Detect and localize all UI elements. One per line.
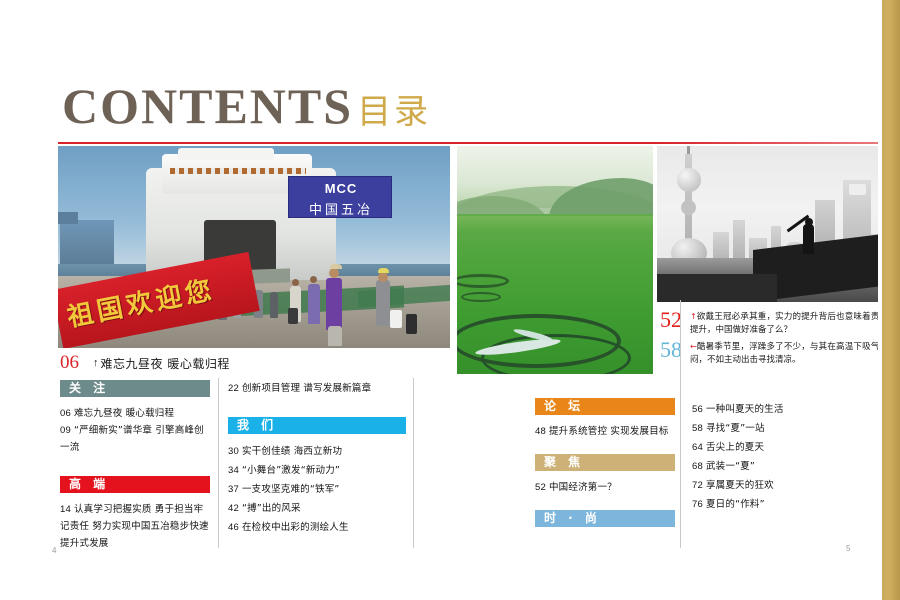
shanghai-skyline-photo	[657, 146, 890, 302]
caption-arrow-icon: ↑	[93, 357, 99, 369]
ship-bridge	[178, 148, 274, 160]
column-divider	[413, 378, 414, 548]
entry-title: 一种叫夏天的生活	[706, 404, 784, 415]
person	[270, 292, 278, 318]
entry-page: 68	[692, 461, 703, 472]
toc-entry[interactable]: 56一种叫夏天的生活	[692, 400, 867, 419]
port-crane-arm	[58, 212, 78, 224]
entry-title: 难忘九昼夜 暖心载归程	[74, 408, 174, 419]
toc-entry[interactable]: 46在检校中出彩的测绘人生	[228, 518, 406, 537]
caption-body-text: 欲戴王冠必承其重，实力的提升背后也意味着责任提升，中国做好准备了么？	[690, 312, 888, 335]
mcc-company-sign: MCC 中国五冶	[288, 176, 392, 218]
toc-entry[interactable]: 22创新项目管理 谱写发展新篇章	[228, 380, 406, 397]
ship-return-photo: MCC 中国五冶 祖国欢迎您	[58, 146, 450, 348]
person	[308, 284, 320, 324]
port-crane	[60, 220, 114, 264]
pearl-tower-upper-sphere	[677, 168, 701, 192]
section-guanzhu: 关 注 06难忘九昼夜 暖心载归程 09“严细新实”谱华章 引擎高峰创一流	[60, 380, 210, 456]
grass-horizon-band	[457, 216, 653, 232]
section-header-jujiao: 聚 焦	[535, 454, 675, 471]
person-head	[292, 279, 299, 286]
person-head	[378, 272, 388, 282]
luggage-bag	[288, 308, 298, 324]
section-header-guanzhu: 关 注	[60, 380, 210, 397]
entry-title: “搏”出的风采	[242, 503, 301, 514]
toc-entry[interactable]: 34“小舞台”激发“新动力”	[228, 461, 406, 480]
entry-page: 37	[228, 484, 239, 495]
section-jujiao: 聚 焦 52中国经济第一？	[535, 454, 675, 496]
section-header-women: 我 们	[228, 417, 406, 434]
page-title-en: CONTENTS	[62, 78, 353, 134]
person-head	[310, 276, 317, 283]
entry-title: “小舞台”激发“新动力”	[242, 465, 340, 476]
section-header-shishang: 时 · 尚	[535, 510, 675, 527]
entry-page: 09	[60, 425, 71, 436]
entry-page: 42	[228, 503, 239, 514]
entry-title: 在检校中出彩的测绘人生	[242, 522, 349, 533]
entry-page: 48	[535, 426, 546, 437]
entry-page: 06	[60, 408, 71, 419]
luggage-bag	[390, 310, 402, 328]
caption-text: ←酷暑季节里，浮躁多了不少，与其在高温下吸气郁闷，不如主动出击寻找清凉。	[690, 340, 888, 367]
toc-column-1: 关 注 06难忘九昼夜 暖心载归程 09“严细新实”谱华章 引擎高峰创一流 高 …	[60, 380, 210, 572]
column-divider	[680, 300, 681, 548]
entry-page: 56	[692, 404, 703, 415]
entry-title: 一支攻坚克难的“铁军”	[242, 484, 340, 495]
section-luntan: 论 坛 48提升系统管控 实现发展目标	[535, 398, 675, 440]
section-header-gaoduan: 高 端	[60, 476, 210, 493]
entry-page: 58	[692, 423, 703, 434]
entry-page: 72	[692, 480, 703, 491]
toc-column-2: 22创新项目管理 谱写发展新篇章 我 们 30实干创佳绩 海西立新功 34“小舞…	[228, 380, 406, 557]
caption-text: ↑欲戴王冠必承其重，实力的提升背后也意味着责任提升，中国做好准备了么？	[690, 310, 888, 337]
entry-title: 舌尖上的夏天	[706, 442, 764, 453]
person-cap	[378, 268, 389, 273]
entry-title: 认真学习把握实质 勇于担当牢记责任 努力实现中国五冶稳步快速提升式发展	[60, 504, 209, 549]
page-number-left: 4	[52, 546, 56, 555]
toc-column-3: 论 坛 48提升系统管控 实现发展目标 聚 焦 52中国经济第一？ 时 · 尚	[535, 398, 675, 547]
toc-column-4: 56一种叫夏天的生活 58寻找“夏”一站 64舌尖上的夏天 68武装一“夏” 7…	[692, 400, 867, 534]
masthead: CONTENTS目录	[62, 78, 482, 138]
worker-head	[805, 218, 813, 226]
mcc-logo: MCC	[289, 181, 393, 196]
entry-page: 46	[228, 522, 239, 533]
toc-entry[interactable]: 06难忘九昼夜 暖心载归程	[60, 405, 210, 422]
luggage-bag	[406, 314, 417, 334]
toc-entry[interactable]: 68武装一“夏”	[692, 457, 867, 476]
caption-arrow-icon: ←	[690, 342, 697, 351]
entry-page: 76	[692, 499, 703, 510]
photo-caption-58: 58 ←酷暑季节里，浮躁多了不少，与其在高温下吸气郁闷，不如主动出击寻找清凉。	[660, 340, 888, 367]
photo-caption-06: 06↑难忘九昼夜 暖心载归程	[60, 352, 230, 374]
world-financial-center-aperture	[849, 184, 866, 195]
section-top-entry: 22创新项目管理 谱写发展新篇章	[228, 380, 406, 397]
entry-title: 夏日的“作料”	[706, 499, 765, 510]
toc-entry[interactable]: 58寻找“夏”一站	[692, 419, 867, 438]
mcc-company-name: 中国五冶	[289, 199, 393, 218]
entry-page: 30	[228, 446, 239, 457]
caption-page-number: 06	[60, 352, 79, 374]
person-foreground	[326, 278, 342, 330]
person-foreground	[376, 280, 390, 326]
caption-text: 难忘九昼夜 暖心载归程	[101, 355, 230, 372]
pearl-tower-mid-sphere	[681, 200, 696, 215]
toc-entry[interactable]: 52中国经济第一？	[535, 479, 675, 496]
foreground-roof-2	[657, 274, 777, 302]
column-divider	[218, 378, 219, 548]
person-cap	[330, 264, 342, 269]
entry-title: 中国经济第一？	[549, 482, 617, 493]
entry-title: 创新项目管理 谱写发展新篇章	[242, 383, 371, 394]
caption-arrow-icon: ↑	[690, 312, 697, 321]
section-shishang-list: 56一种叫夏天的生活 58寻找“夏”一站 64舌尖上的夏天 68武装一“夏” 7…	[692, 400, 867, 514]
photo-caption-52: 52 ↑欲戴王冠必承其重，实力的提升背后也意味着责任提升，中国做好准备了么？	[660, 310, 888, 337]
toc-entry[interactable]: 42“搏”出的风采	[228, 499, 406, 518]
entry-page: 34	[228, 465, 239, 476]
toc-entry[interactable]: 09“严细新实”谱华章 引擎高峰创一流	[60, 422, 210, 456]
entry-title: 实干创佳绩 海西立新功	[242, 446, 342, 457]
person-head	[329, 268, 339, 278]
toc-entry[interactable]: 30实干创佳绩 海西立新功	[228, 442, 406, 461]
page-number-right: 5	[846, 544, 850, 553]
entry-page: 52	[535, 482, 546, 493]
worker-silhouette	[803, 224, 814, 254]
toc-entry[interactable]: 72享属夏天的狂欢	[692, 476, 867, 495]
toc-entry[interactable]: 76夏日的“作料”	[692, 495, 867, 514]
section-gaoduan: 高 端 14认真学习把握实质 勇于担当牢记责任 努力实现中国五冶稳步快速提升式发…	[60, 476, 210, 552]
header-rule	[58, 142, 890, 144]
section-header-luntan: 论 坛	[535, 398, 675, 415]
grassland-river-photo	[457, 146, 653, 374]
caption-body-text: 酷暑季节里，浮躁多了不少，与其在高温下吸气郁闷，不如主动出击寻找清凉。	[690, 342, 888, 365]
river-bend-small-2	[461, 292, 501, 302]
entry-title: 享属夏天的狂欢	[706, 480, 774, 491]
ship-windows	[170, 168, 306, 174]
person-legs	[328, 326, 342, 346]
entry-title: 武装一“夏”	[706, 461, 755, 472]
section-women: 我 们 30实干创佳绩 海西立新功 34“小舞台”激发“新动力” 37一支攻坚克…	[228, 417, 406, 537]
entry-page: 22	[228, 383, 239, 394]
entry-page: 14	[60, 504, 71, 515]
caption-page-number: 58	[660, 337, 682, 363]
section-shishang: 时 · 尚	[535, 510, 675, 527]
entry-title: 寻找“夏”一站	[706, 423, 765, 434]
toc-entry[interactable]: 14认真学习把握实质 勇于担当牢记责任 努力实现中国五冶稳步快速提升式发展	[60, 501, 210, 552]
toc-entry[interactable]: 48提升系统管控 实现发展目标	[535, 423, 675, 440]
toc-entry[interactable]: 64舌尖上的夏天	[692, 438, 867, 457]
gold-page-edge	[882, 0, 900, 600]
page-title-cn: 目录	[357, 84, 431, 133]
entry-title: “严细新实”谱华章 引擎高峰创一流	[60, 425, 204, 453]
caption-page-number: 52	[660, 307, 682, 333]
entry-title: 提升系统管控 实现发展目标	[549, 426, 669, 437]
entry-page: 64	[692, 442, 703, 453]
toc-entry[interactable]: 37一支攻坚克难的“铁军”	[228, 480, 406, 499]
